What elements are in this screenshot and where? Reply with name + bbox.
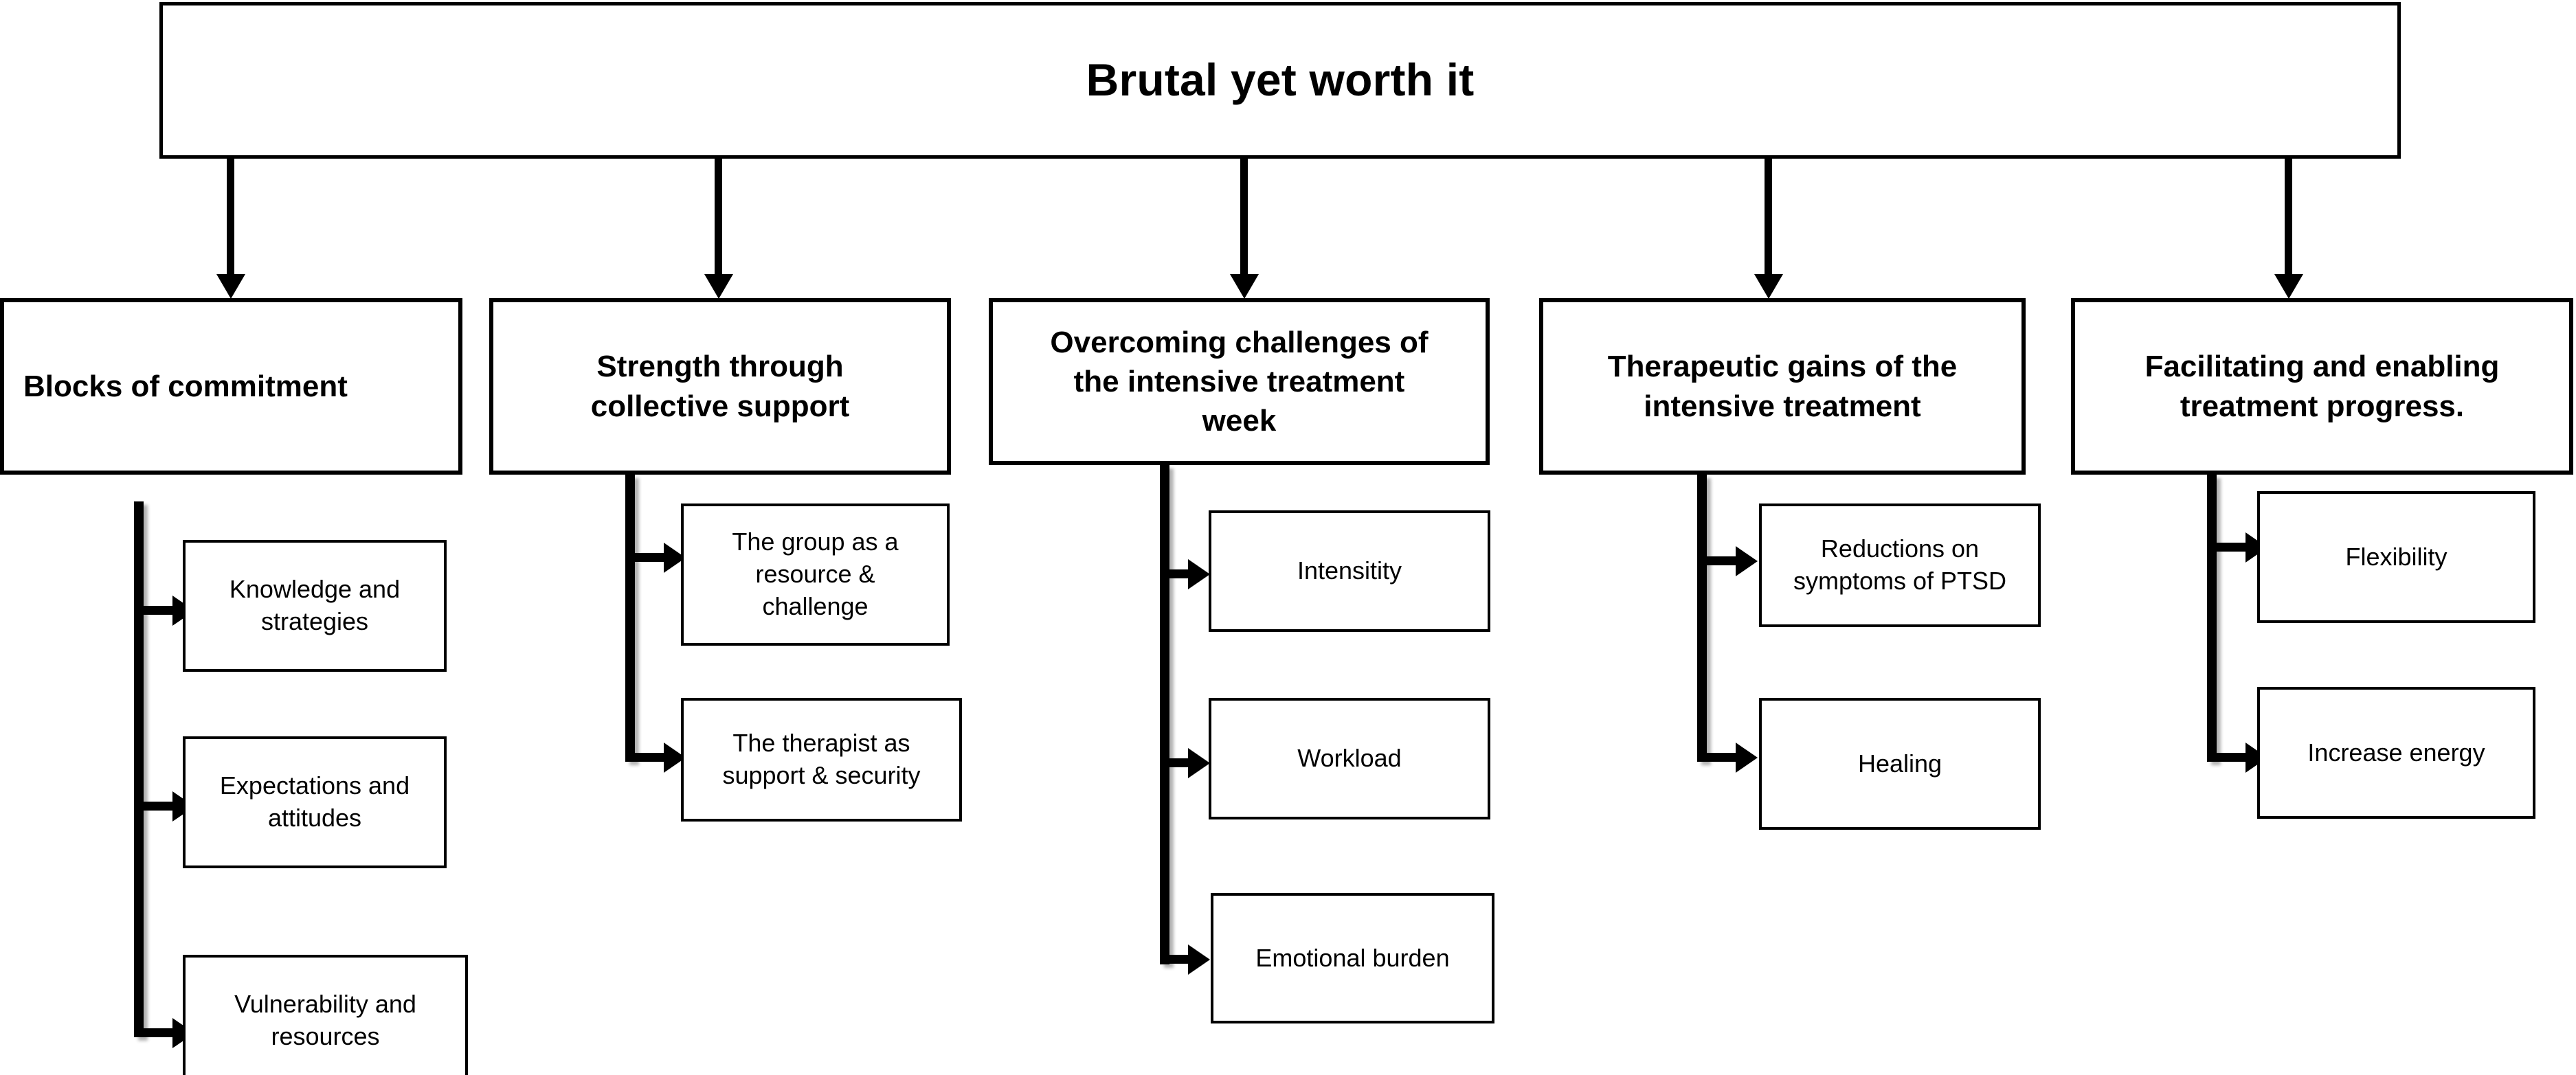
sub-node-3-2: Workload [1209, 698, 1490, 819]
sub-node-2-1: The group as a resource & challenge [681, 503, 950, 646]
connector-theme-5-child-1 [2217, 543, 2247, 552]
connector-theme-2-child-2 [635, 753, 665, 762]
sub-node-5-2: Increase energy [2257, 687, 2535, 819]
connector-root-to-theme-2 [715, 159, 722, 275]
spine-theme-5 [2207, 475, 2217, 762]
sub-node-5-1: Flexibility [2257, 491, 2535, 623]
connector-theme-1-child-3 [144, 1028, 174, 1037]
connector-theme-3-child-2 [1169, 758, 1189, 767]
connector-root-to-theme-1 [227, 159, 234, 275]
connector-theme-5-child-2 [2217, 753, 2247, 762]
theme-node-2: Strength through collective support [489, 298, 951, 475]
connector-root-to-theme-4 [1765, 159, 1772, 275]
connector-theme-4-child-1 [1707, 556, 1737, 565]
connector-theme-1-child-1 [144, 606, 174, 615]
theme-node-4: Therapeutic gains of the intensive treat… [1539, 298, 2026, 475]
sub-node-2-2: The therapist as support & security [681, 698, 962, 822]
sub-node-1-1: Knowledge and strategies [183, 540, 447, 672]
spine-theme-3 [1160, 465, 1169, 964]
spine-theme-2 [625, 475, 635, 762]
connector-root-to-theme-5 [2285, 159, 2292, 275]
sub-node-1-2: Expectations and attitudes [183, 736, 447, 868]
connector-theme-3-child-1 [1169, 569, 1189, 578]
spine-theme-1 [134, 501, 144, 1037]
root-node: Brutal yet worth it [159, 2, 2401, 159]
theme-node-5: Facilitating and enabling treatment prog… [2071, 298, 2573, 475]
diagram-canvas: Brutal yet worth it Blocks of commitment… [0, 0, 2576, 1075]
theme-node-3: Overcoming challenges of the intensive t… [989, 298, 1490, 465]
connector-theme-2-child-1 [635, 553, 665, 562]
connector-theme-3-child-3 [1169, 955, 1189, 964]
theme-node-1: Blocks of commitment [0, 298, 462, 475]
connector-theme-1-child-2 [144, 802, 174, 811]
spine-theme-4 [1697, 475, 1707, 762]
sub-node-3-1: Intensitity [1209, 510, 1490, 632]
sub-node-4-2: Healing [1759, 698, 2041, 830]
sub-node-4-1: Reductions on symptoms of PTSD [1759, 503, 2041, 627]
sub-node-1-3: Vulnerability and resources [183, 955, 468, 1075]
connector-theme-4-child-2 [1707, 753, 1737, 762]
sub-node-3-3: Emotional burden [1211, 893, 1494, 1023]
connector-root-to-theme-3 [1240, 159, 1248, 275]
